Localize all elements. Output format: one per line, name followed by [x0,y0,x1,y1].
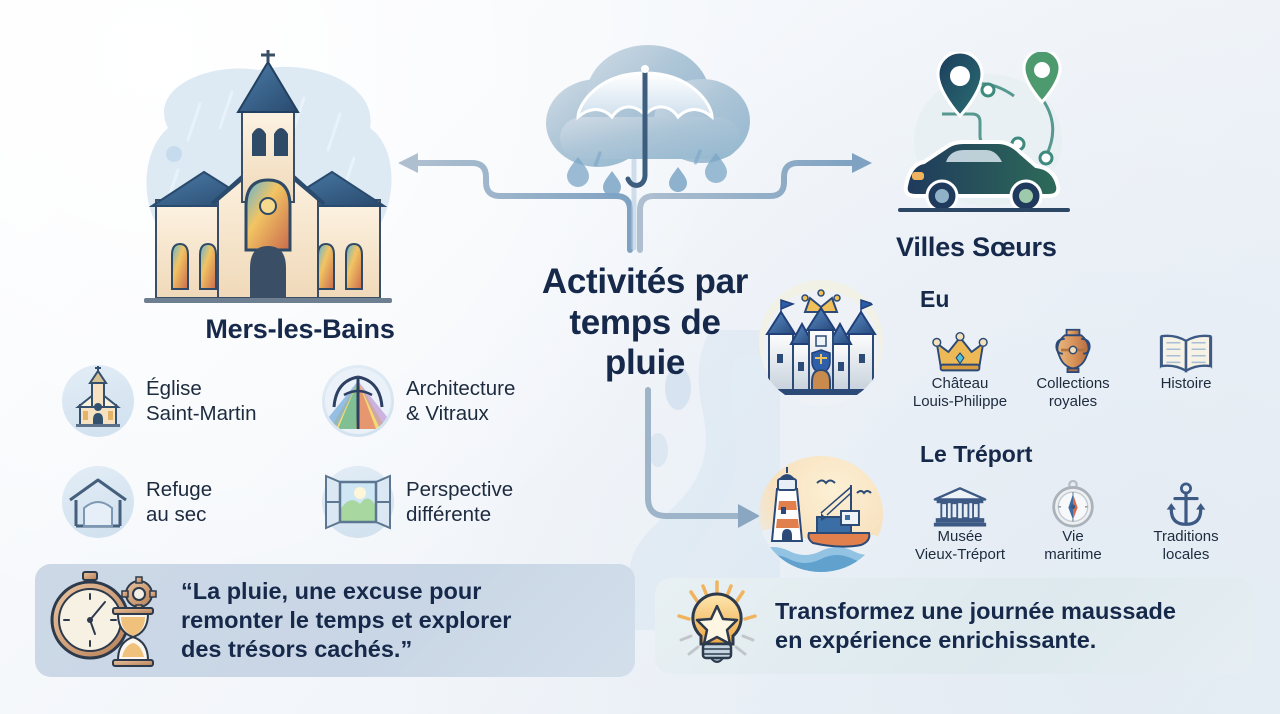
book-icon [1138,325,1234,375]
mers-les-bains-title: Mers-les-Bains [100,314,500,345]
feature-eglise-saint-martin[interactable]: ÉgliseSaint-Martin [62,365,257,437]
poi-caption: Histoire [1161,375,1212,392]
page-title-line3: pluie [500,343,790,384]
page-title: Activités par temps de pluie [500,262,790,384]
poi-chateau-louis-philippe[interactable]: ChâteauLouis-Philippe [912,325,1008,411]
poi-caption: Traditionslocales [1153,528,1218,563]
feature-refuge-au-sec[interactable]: Refugeau sec [62,466,212,538]
poi-vie-maritime[interactable]: Viemaritime [1025,478,1121,564]
poi-caption: Collectionsroyales [1036,375,1109,410]
feature-perspective-differente[interactable]: Perspectivedifférente [322,466,513,538]
lighthouse-boat-illustration [757,455,885,573]
stained-glass-icon [322,365,394,437]
lightbulb-star-icon [667,578,767,675]
shelter-icon [62,466,134,538]
city-title-eu: Eu [920,286,949,313]
page-title-line1: Activités par [500,262,790,303]
crown-icon [912,325,1008,375]
poi-caption: MuséeVieux-Tréport [915,528,1005,563]
compass-icon [1025,478,1121,528]
poi-caption: ChâteauLouis-Philippe [913,375,1007,410]
poi-musee-vieux-treport[interactable]: MuséeVieux-Tréport [912,478,1008,564]
feature-label: ÉgliseSaint-Martin [146,376,257,426]
car-map-route-icon [890,52,1080,224]
vase-icon [1025,325,1121,375]
villes-soeurs-title: Villes Sœurs [896,232,1057,263]
church-icon [62,365,134,437]
museum-icon [912,478,1008,528]
quote-banner: “La pluie, une excuse pour remonter le t… [35,564,635,677]
feature-architecture-vitraux[interactable]: Architecture& Vitraux [322,365,515,437]
poi-collections-royales[interactable]: Collectionsroyales [1025,325,1121,411]
church-rain-illustration [108,48,428,320]
feature-label: Perspectivedifférente [406,477,513,527]
cta-banner: Transformez une journée maussade en expé… [655,578,1253,674]
feature-label: Architecture& Vitraux [406,376,515,426]
poi-caption: Viemaritime [1044,528,1102,563]
city-title-le-treport: Le Tréport [920,441,1032,468]
poi-traditions-locales[interactable]: Traditionslocales [1138,478,1234,564]
poi-histoire[interactable]: Histoire [1138,325,1234,393]
anchor-icon [1138,478,1234,528]
cta-text: Transformez une journée maussade en expé… [775,597,1176,655]
open-window-icon [322,466,394,538]
page-title-line2: temps de [500,303,790,344]
infographic-canvas: Activités par temps de pluie [0,0,1280,714]
stopwatch-hourglass-icon [49,568,171,673]
feature-label: Refugeau sec [146,477,212,527]
quote-text: “La pluie, une excuse pour remonter le t… [181,577,511,664]
rain-cloud-umbrella-icon [520,25,770,235]
castle-crown-illustration [757,278,885,406]
